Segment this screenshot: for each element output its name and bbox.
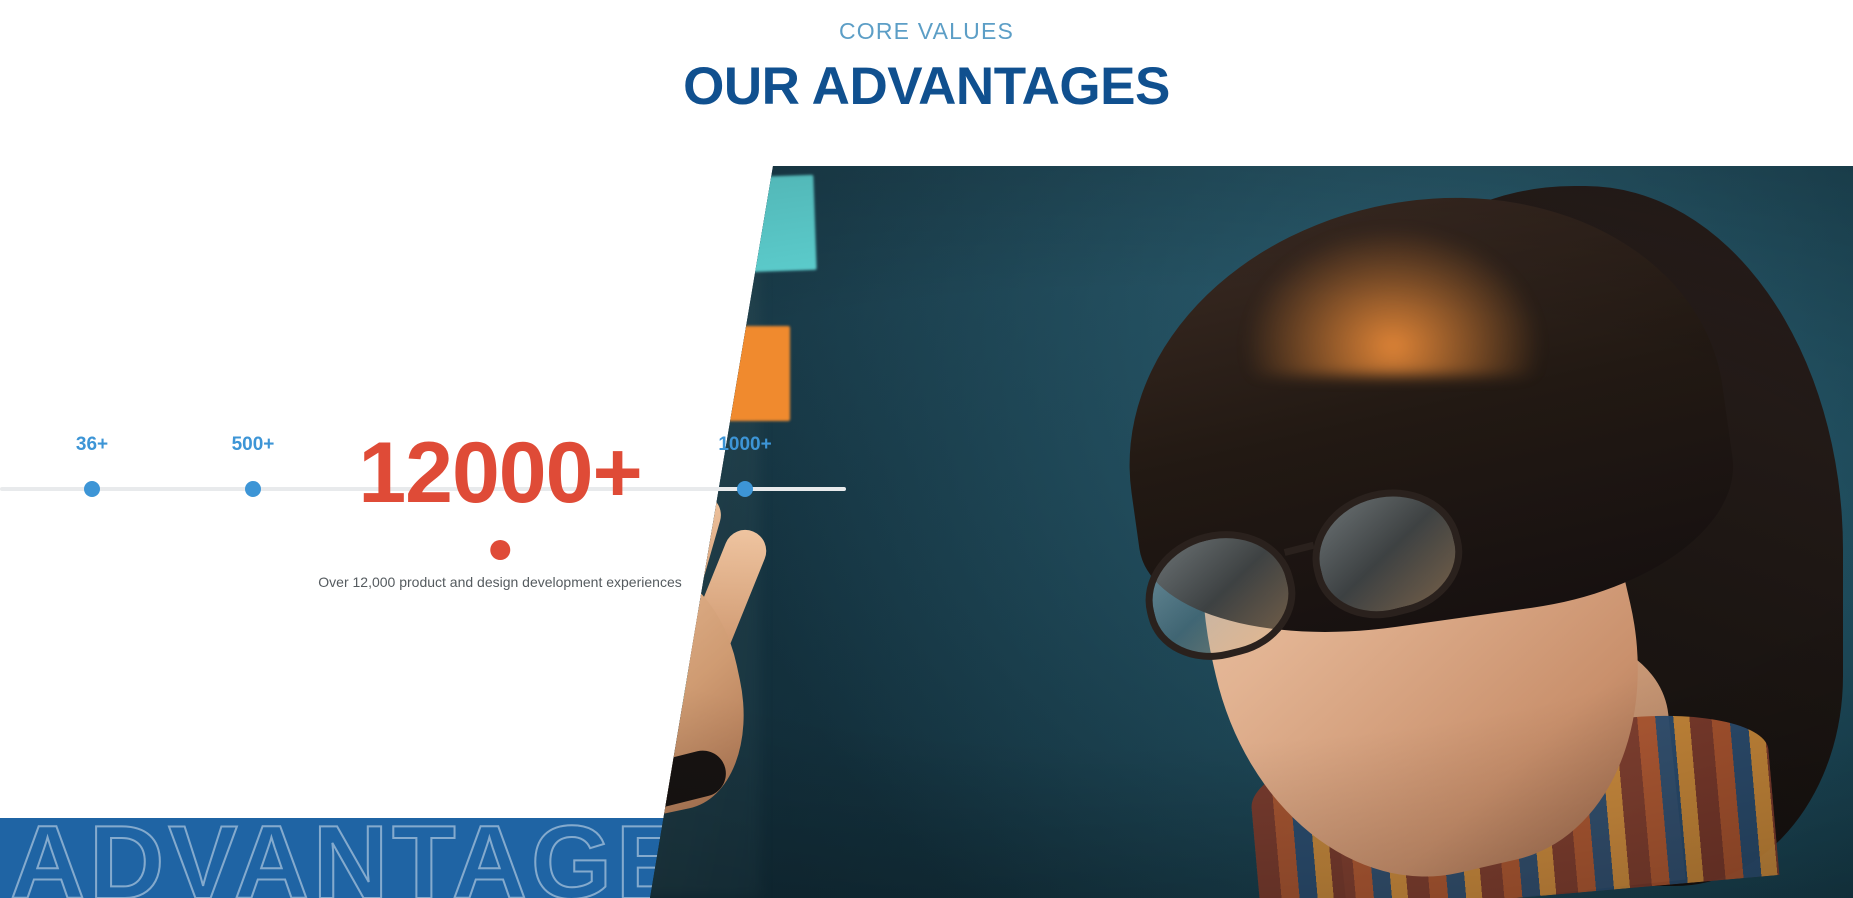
sticky-note	[377, 665, 479, 797]
sticky-note	[8, 184, 128, 304]
sticky-note	[10, 586, 130, 716]
sticky-note	[612, 606, 688, 706]
sticky-note	[300, 166, 410, 286]
timeline-label-2: 500+	[232, 434, 275, 456]
sticky-note	[30, 336, 150, 461]
sticky-note	[560, 726, 640, 831]
sticky-note	[300, 646, 405, 771]
sticky-note	[300, 316, 405, 441]
section-eyebrow: CORE VALUES	[0, 18, 1853, 45]
hero-photo	[0, 166, 1853, 898]
featured-stat-value: 12000+	[318, 430, 681, 516]
hero-photo-panel	[0, 166, 1853, 898]
sticky-note	[180, 316, 290, 436]
sticky-note	[632, 316, 712, 416]
sticky-note	[649, 166, 736, 227]
sticky-note	[150, 176, 265, 306]
advantages-section: ADVANTAGES	[0, 0, 1853, 898]
sticky-note	[300, 596, 395, 716]
sticky-note	[170, 466, 280, 586]
timeline-dot-1	[84, 481, 100, 497]
band-outline-text: ADVANTAGES	[10, 818, 763, 898]
sticky-note	[462, 204, 563, 329]
page-title: OUR ADVANTAGES	[0, 56, 1853, 117]
photo-vignette	[0, 166, 1853, 898]
timeline-label-1: 36+	[76, 434, 108, 456]
featured-stat-caption: Over 12,000 product and design developme…	[318, 574, 681, 590]
sticky-note	[160, 596, 285, 731]
sticky-note	[572, 184, 657, 293]
featured-stat: 12000+ Over 12,000 product and design de…	[318, 430, 681, 590]
featured-stat-dot	[490, 540, 510, 560]
timeline-dot-2	[245, 481, 261, 497]
